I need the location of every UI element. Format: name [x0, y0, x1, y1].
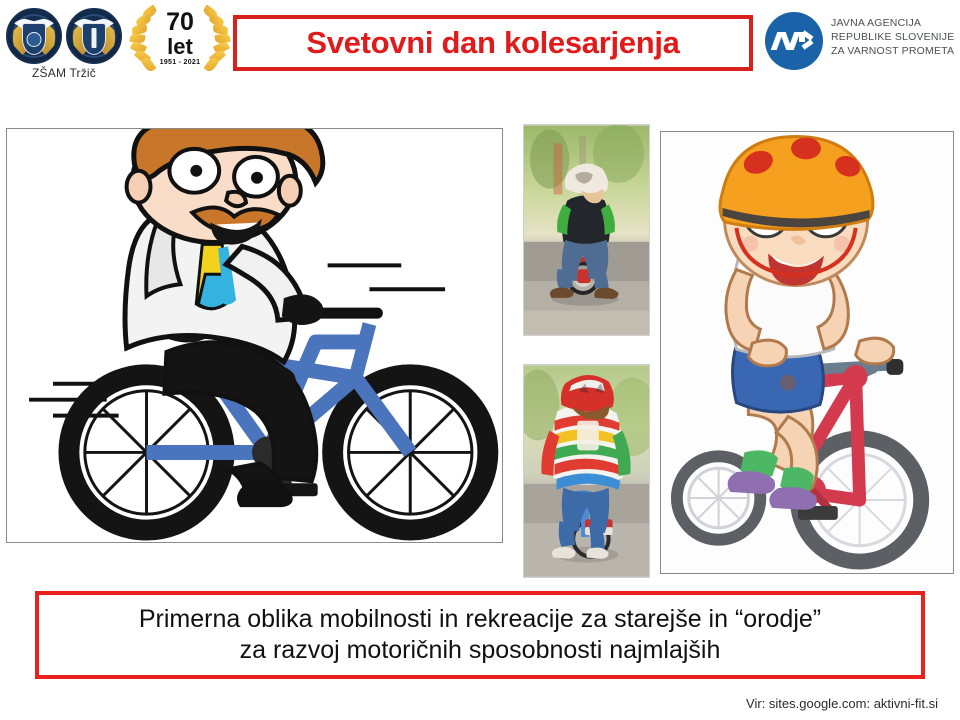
toddler-balance-bike-photo [524, 125, 649, 335]
crest-shield [22, 23, 46, 55]
avp-circle-icon [765, 12, 823, 70]
avp-agency-logo: JAVNA AGENCIJA REPUBLIKE SLOVENIJE ZA VA… [765, 10, 955, 76]
anniversary-word: let [128, 36, 232, 58]
anniversary-badge: 70 let 1951 - 2021 [128, 4, 232, 82]
avp-line-2: REPUBLIKE SLOVENIJE [831, 30, 955, 44]
crest-disc [27, 32, 42, 47]
zsam-emblem-right-icon [66, 8, 122, 64]
page-title: Svetovni dan kolesarjenja [306, 25, 679, 61]
man-on-bicycle-drawing [7, 129, 502, 542]
anniversary-number: 70 [128, 10, 232, 35]
crest-sword-icon [92, 28, 97, 48]
caption-line-2: za razvoj motoričnih sposobnosti najmlaj… [240, 635, 721, 666]
illustration-boy-on-bicycle [660, 131, 954, 574]
avp-mark-icon [774, 32, 814, 50]
crest-shield [82, 23, 106, 55]
zsam-emblem-left-icon [6, 8, 62, 64]
illustration-man-on-bicycle [6, 128, 503, 543]
zsam-logo-label: ZŠAM Tržič [4, 66, 124, 80]
zsam-trzic-logo: ZŠAM Tržič [4, 6, 124, 84]
source-note: Vir: sites.google.com: aktivni-fit.si [746, 696, 938, 711]
caption-line-1: Primerna oblika mobilnosti in rekreacije… [139, 604, 821, 635]
avp-agency-text: JAVNA AGENCIJA REPUBLIKE SLOVENIJE ZA VA… [831, 16, 955, 59]
slide-canvas: ZŠAM Tržič 70 let 1951 - 2021 Svetovni d… [0, 0, 960, 720]
avp-line-3: ZA VARNOST PROMETA [831, 44, 955, 58]
boy-on-bicycle-drawing [661, 132, 953, 573]
photo-toddler-balance-bike [523, 124, 650, 336]
photo-child-striped-jacket-bike [523, 364, 650, 578]
avp-line-1: JAVNA AGENCIJA [831, 16, 955, 30]
caption-box: Primerna oblika mobilnosti in rekreacije… [35, 591, 925, 679]
child-striped-jacket-bike-photo [524, 365, 649, 577]
slide-title-box: Svetovni dan kolesarjenja [233, 15, 753, 71]
anniversary-years: 1951 - 2021 [128, 59, 232, 66]
